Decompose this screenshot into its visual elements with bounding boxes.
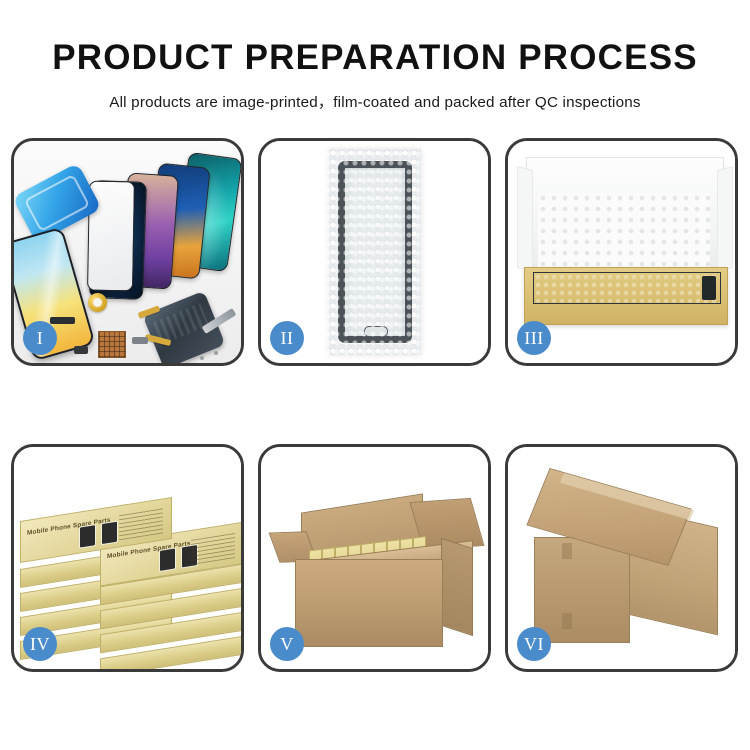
carton-seam-lower [562, 613, 572, 629]
screw-4 [214, 351, 218, 355]
box-spec-lines-rear [119, 507, 163, 540]
header: PRODUCT PREPARATION PROCESS All products… [0, 0, 750, 112]
step-badge-4: IV [23, 627, 57, 661]
step-badge-2: II [270, 321, 304, 355]
step-badge-1: I [23, 321, 57, 355]
step-badge-6: VI [517, 627, 551, 661]
sealed-carton-front-panel [534, 537, 630, 643]
process-step-panel-1: I [11, 138, 244, 366]
product-preparation-infographic: PRODUCT PREPARATION PROCESS All products… [0, 0, 750, 750]
carton-seam-upper [562, 543, 572, 559]
box-spec-lines-front [191, 532, 235, 565]
kraft-box-tray [524, 267, 728, 325]
box-label-text-rear: Mobile Phone Spare Parts [27, 517, 111, 537]
page-subtitle: All products are image-printed，film-coat… [0, 78, 750, 112]
process-step-panel-2: II [258, 138, 491, 366]
small-part-1 [74, 346, 88, 354]
process-step-panel-3: III [505, 138, 738, 366]
process-step-panel-5: V [258, 444, 491, 672]
wrapped-screen-glass [338, 161, 412, 343]
small-part-6 [132, 337, 148, 344]
copper-grid-component [98, 331, 126, 358]
gold-coil-part [88, 293, 107, 312]
step-badge-5: V [270, 627, 304, 661]
process-step-panel-4: Mobile Phone Spare Parts Mobile Phone Sp… [11, 444, 244, 672]
process-step-grid: I II III [11, 138, 739, 672]
box-phone-thumbnail-rear-a [79, 524, 96, 549]
screw-1 [200, 356, 204, 360]
speaker-bar-component [50, 317, 75, 324]
carton-front-panel [295, 559, 443, 647]
wrapped-screen-in-tray [533, 272, 721, 304]
box-phone-thumbnail-front-a [159, 547, 176, 572]
page-title: PRODUCT PREPARATION PROCESS [0, 0, 750, 78]
foam-padding [538, 193, 710, 269]
box-phone-thumbnail-rear-b [101, 521, 118, 546]
step-badge-3: III [517, 321, 551, 355]
process-step-panel-6: VI [505, 444, 738, 672]
carton-side-panel [441, 538, 473, 636]
